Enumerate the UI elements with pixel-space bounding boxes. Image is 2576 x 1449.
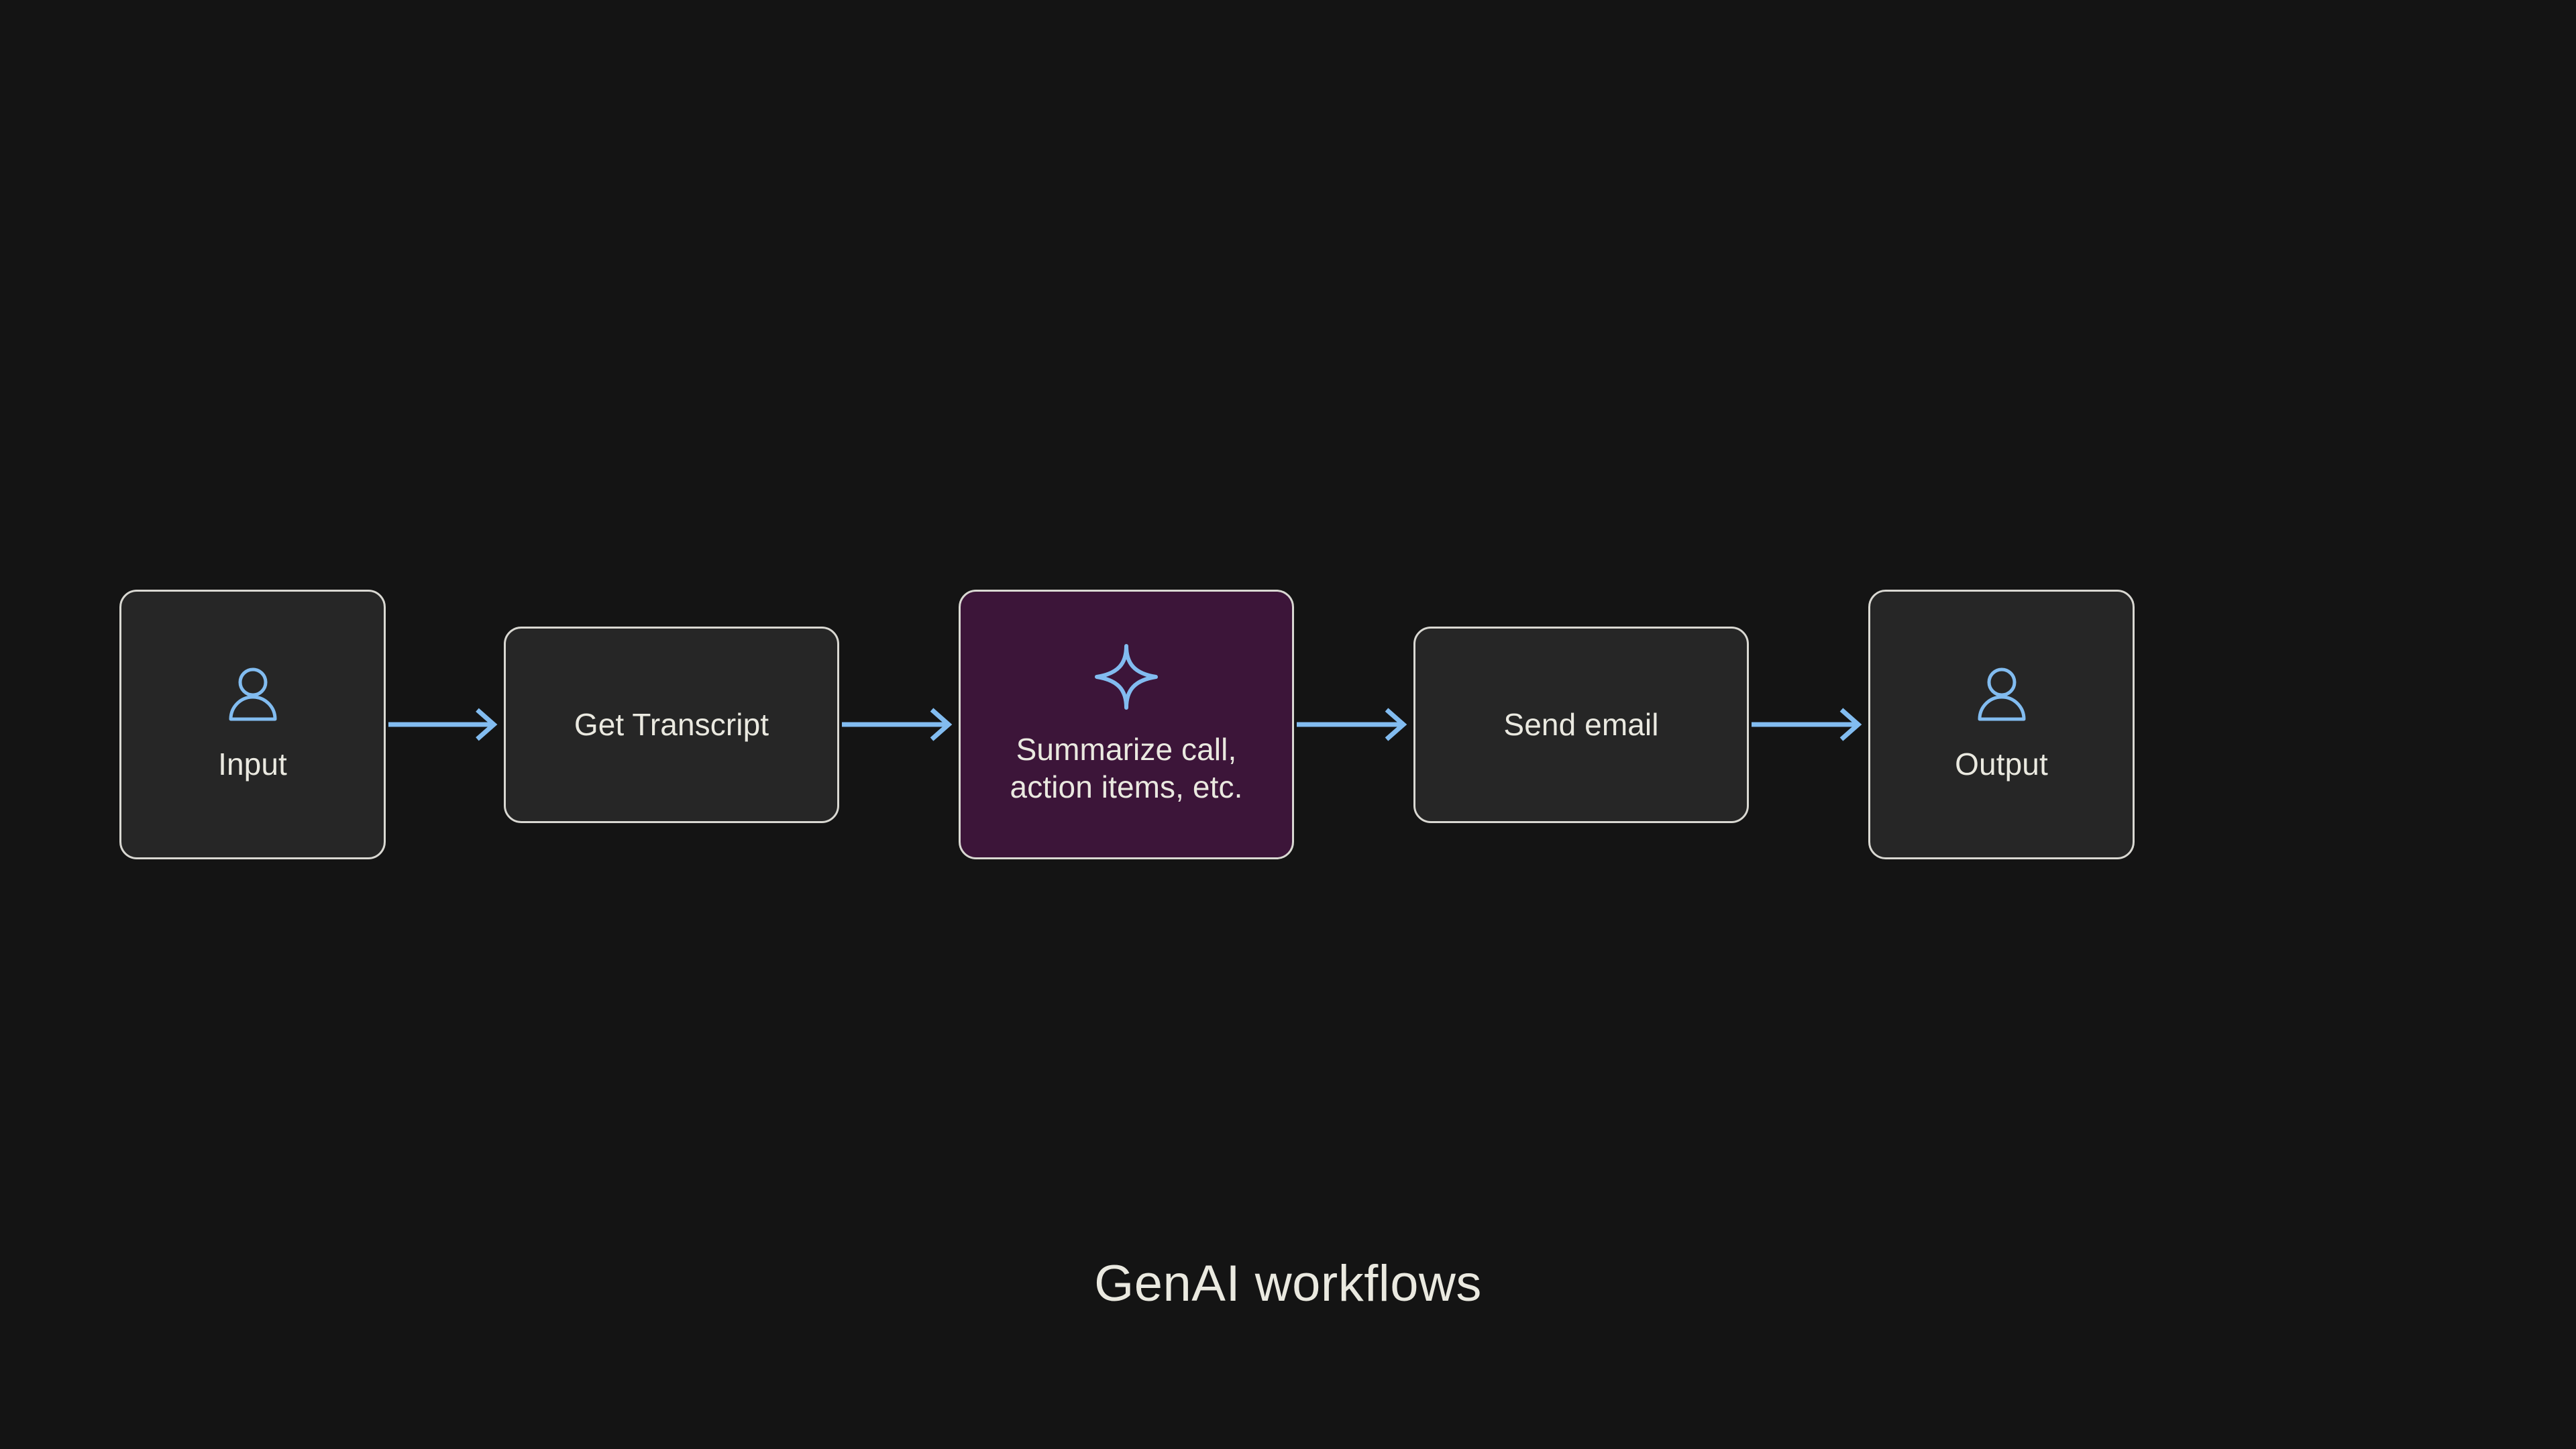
arrow-send-email-to-output	[1749, 701, 1868, 748]
flow-node-output[interactable]: Output	[1868, 590, 2135, 859]
flow-node-get-transcript[interactable]: Get Transcript	[504, 627, 839, 823]
flow-node-label: Summarize call, action items, etc.	[1010, 731, 1243, 806]
flow-node-summarize[interactable]: Summarize call, action items, etc.	[959, 590, 1294, 859]
person-icon	[1976, 666, 2028, 721]
flow-node-send-email[interactable]: Send email	[1413, 627, 1749, 823]
flow-node-input[interactable]: Input	[119, 590, 386, 859]
flow-node-label: Get Transcript	[574, 706, 769, 743]
arrow-get-transcript-to-summarize	[839, 701, 959, 748]
workflow-flow-row: Input Get Transcript	[0, 577, 2576, 872]
arrow-input-to-get-transcript	[386, 701, 504, 748]
flow-node-label: Output	[1955, 745, 2048, 783]
sparkle-icon	[1094, 643, 1159, 710]
flow-node-label: Input	[218, 745, 287, 783]
arrow-summarize-to-send-email	[1294, 701, 1413, 748]
person-icon	[227, 666, 279, 721]
diagram-canvas: Input Get Transcript	[0, 0, 2576, 1449]
diagram-caption: GenAI workflows	[0, 1254, 2576, 1313]
flow-node-label: Send email	[1503, 706, 1658, 743]
